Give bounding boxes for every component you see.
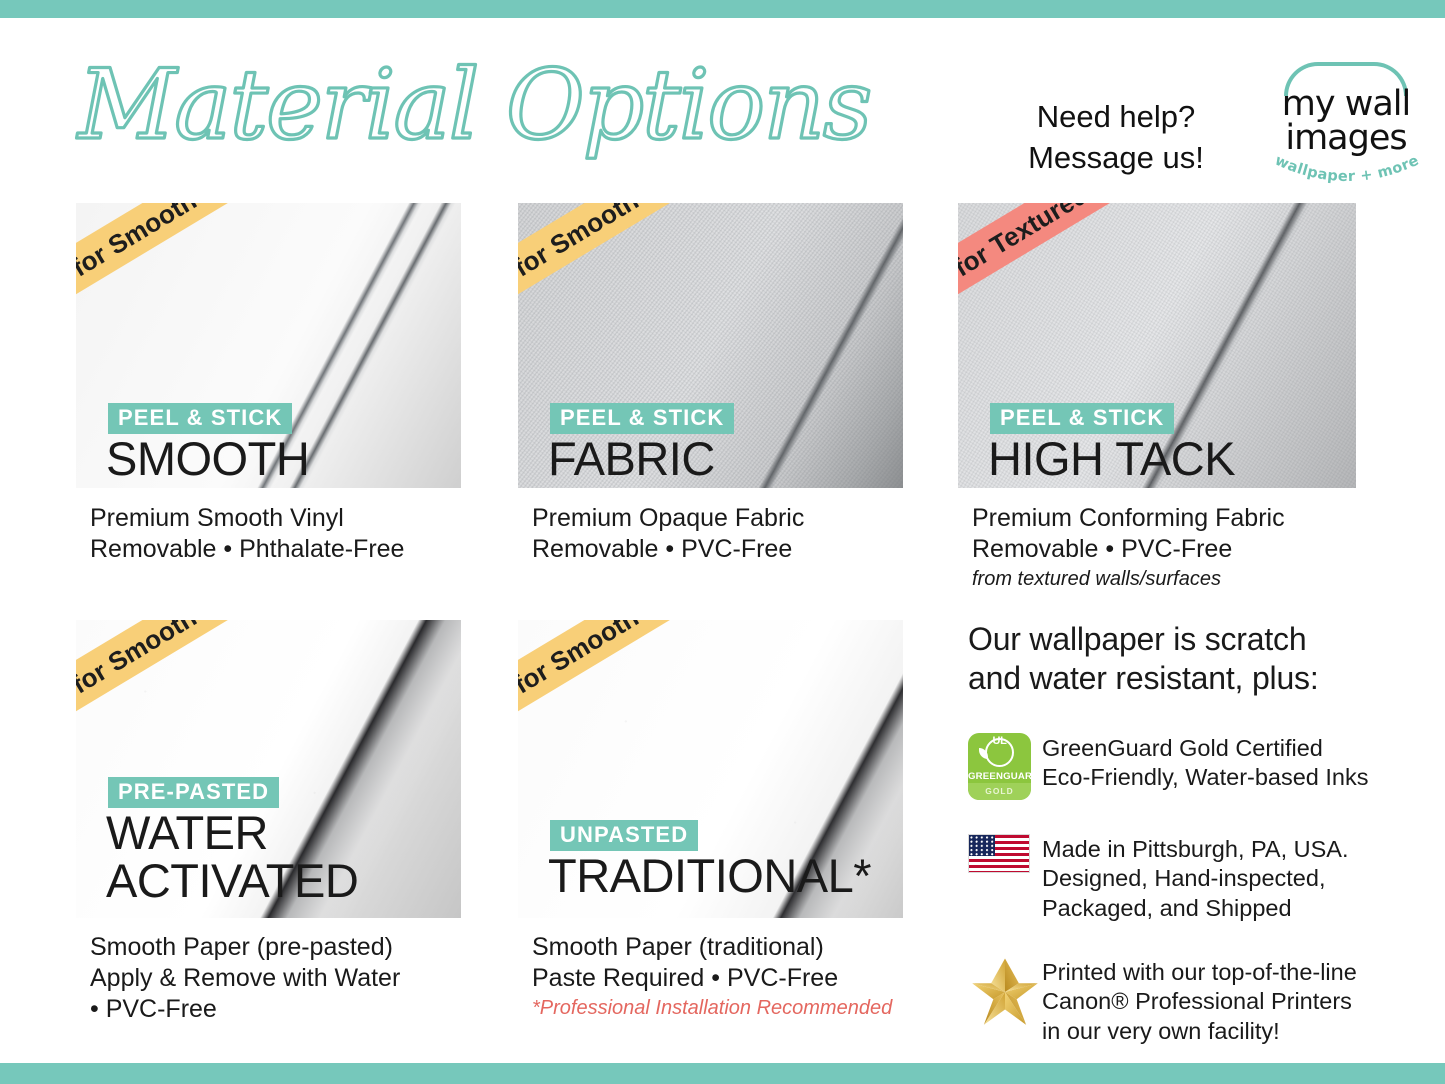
caption-line1: Premium Opaque Fabric xyxy=(532,504,804,532)
feature-line3: in our very own facility! xyxy=(1042,1018,1280,1044)
material-card-fabric[interactable]: for Smooth Walls PEEL & STICK FABRIC Pre… xyxy=(518,203,903,488)
bottom-accent-bar xyxy=(0,1063,1445,1084)
need-help-line2: Message us! xyxy=(990,137,1242,178)
ribbon-label: for Smooth Walls xyxy=(518,203,708,283)
top-accent-bar xyxy=(0,0,1445,18)
ribbon-smooth: for Smooth Walls xyxy=(76,203,320,302)
feature-line2: Canon® Professional Printers xyxy=(1042,988,1352,1014)
ribbon-traditional: for Smooth Walls xyxy=(518,620,762,719)
features-title-line2: and water resistant, plus: xyxy=(968,660,1319,696)
logo-tagline-text: wallpaper + more xyxy=(1272,153,1421,185)
card-heading-smooth: SMOOTH xyxy=(106,435,309,483)
features-title-line1: Our wallpaper is scratch xyxy=(968,621,1306,657)
badge-unpasted: UNPASTED xyxy=(550,820,698,851)
features-panel: Our wallpaper is scratch and water resis… xyxy=(968,620,1398,1046)
page-title: Material Options xyxy=(78,54,698,164)
greenguard-name: GREENGUARD xyxy=(968,771,1031,782)
feature-text-made-in-usa: Made in Pittsburgh, PA, USA. Designed, H… xyxy=(1042,834,1349,924)
feature-line1: Made in Pittsburgh, PA, USA. xyxy=(1042,836,1349,862)
card-image-traditional: for Smooth Walls UNPASTED TRADITIONAL* xyxy=(518,620,903,918)
caption-line1: Premium Conforming Fabric xyxy=(972,504,1285,532)
caption-line1: Smooth Paper (pre-pasted) xyxy=(90,933,393,961)
caption-note: from textured walls/surfaces xyxy=(972,567,1392,592)
badge-peel-and-stick: PEEL & STICK xyxy=(550,403,734,434)
badge-label: UNPASTED xyxy=(560,822,688,847)
feature-item-canon-printers: Printed with our top-of-the-line Canon® … xyxy=(968,957,1398,1047)
greenguard-tier-band: GOLD xyxy=(968,783,1031,800)
caption-line1: Premium Smooth Vinyl xyxy=(90,504,344,532)
gold-star-icon xyxy=(968,957,1042,1027)
brand-logo[interactable]: my wall images wallpaper + more xyxy=(1266,62,1426,190)
need-help-line1: Need help? xyxy=(990,96,1242,137)
caption-line3: • PVC-Free xyxy=(90,995,217,1023)
ribbon-fabric: for Smooth Walls xyxy=(518,203,762,302)
feature-item-greenguard: UL GREENGUARD GOLD GreenGuard Gold Certi… xyxy=(968,733,1398,800)
logo-line2: images xyxy=(1266,118,1426,158)
ribbon-label: for Smooth Walls xyxy=(518,620,708,700)
ribbon-label: for Textured Walls xyxy=(958,203,1158,283)
feature-line1: GreenGuard Gold Certified xyxy=(1042,735,1323,761)
caption-traditional: Smooth Paper (traditional) Paste Require… xyxy=(532,932,952,1020)
caption-high-tack: Premium Conforming Fabric Removable • PV… xyxy=(972,503,1392,591)
caption-line2: Removable • Phthalate-Free xyxy=(90,535,404,563)
page-header: Material Options Need help? Message us! … xyxy=(0,18,1445,194)
card-heading-traditional: TRADITIONAL* xyxy=(548,852,871,900)
logo-tagline: wallpaper + more xyxy=(1272,158,1422,192)
material-card-traditional[interactable]: for Smooth Walls UNPASTED TRADITIONAL* S… xyxy=(518,620,903,918)
caption-fabric: Premium Opaque Fabric Removable • PVC-Fr… xyxy=(532,503,932,565)
greenguard-gold-icon: UL GREENGUARD GOLD xyxy=(968,733,1042,800)
feature-text-greenguard: GreenGuard Gold Certified Eco-Friendly, … xyxy=(1042,733,1369,793)
badge-label: PEEL & STICK xyxy=(1000,405,1164,430)
material-card-high-tack[interactable]: for Textured Walls PEEL & STICK HIGH TAC… xyxy=(958,203,1356,488)
caption-line2: Removable • PVC-Free xyxy=(532,535,792,563)
feature-line1: Printed with our top-of-the-line xyxy=(1042,959,1357,985)
feature-text-canon-printers: Printed with our top-of-the-line Canon® … xyxy=(1042,957,1357,1047)
us-flag-icon xyxy=(968,834,1042,873)
ribbon-water-activated: for Smooth Walls xyxy=(76,620,320,719)
greenguard-ul-label: UL xyxy=(968,735,1031,747)
caption-line2: Removable • PVC-Free xyxy=(972,535,1232,563)
badge-peel-and-stick: PEEL & STICK xyxy=(990,403,1174,434)
ribbon-label: for Smooth Walls xyxy=(76,203,266,283)
card-image-water-activated: for Smooth Walls PRE-PASTED WATER ACTIVA… xyxy=(76,620,461,918)
feature-line2: Designed, Hand-inspected, xyxy=(1042,865,1325,891)
badge-pre-pasted: PRE-PASTED xyxy=(108,777,279,808)
card-heading-line2: ACTIVATED xyxy=(106,854,358,907)
feature-line3: Packaged, and Shipped xyxy=(1042,895,1292,921)
caption-line2: Paste Required • PVC-Free xyxy=(532,964,838,992)
material-card-water-activated[interactable]: for Smooth Walls PRE-PASTED WATER ACTIVA… xyxy=(76,620,461,918)
card-heading-line1: WATER xyxy=(106,806,268,859)
caption-note: *Professional Installation Recommended xyxy=(532,996,952,1021)
material-card-smooth[interactable]: for Smooth Walls PEEL & STICK SMOOTH Pre… xyxy=(76,203,461,488)
page-title-text: Material Options xyxy=(76,49,870,161)
card-heading-high-tack: HIGH TACK xyxy=(988,435,1235,483)
caption-water-activated: Smooth Paper (pre-pasted) Apply & Remove… xyxy=(90,932,500,1024)
feature-item-made-in-usa: Made in Pittsburgh, PA, USA. Designed, H… xyxy=(968,834,1398,924)
caption-smooth: Premium Smooth Vinyl Removable • Phthala… xyxy=(90,503,490,565)
card-heading-water-activated: WATER ACTIVATED xyxy=(106,809,358,905)
card-heading-fabric: FABRIC xyxy=(548,435,715,483)
card-image-fabric: for Smooth Walls PEEL & STICK FABRIC xyxy=(518,203,903,488)
feature-line2: Eco-Friendly, Water-based Inks xyxy=(1042,764,1369,790)
ribbon-high-tack: for Textured Walls xyxy=(958,203,1202,302)
greenguard-tier: GOLD xyxy=(985,786,1014,796)
card-image-smooth: for Smooth Walls PEEL & STICK SMOOTH xyxy=(76,203,461,488)
card-image-high-tack: for Textured Walls PEEL & STICK HIGH TAC… xyxy=(958,203,1356,488)
caption-line2: Apply & Remove with Water xyxy=(90,964,400,992)
flag-stars xyxy=(969,835,995,856)
need-help-block: Need help? Message us! xyxy=(990,96,1242,178)
badge-label: PRE-PASTED xyxy=(118,779,269,804)
badge-peel-and-stick: PEEL & STICK xyxy=(108,403,292,434)
features-title: Our wallpaper is scratch and water resis… xyxy=(968,620,1398,699)
badge-label: PEEL & STICK xyxy=(118,405,282,430)
badge-label: PEEL & STICK xyxy=(560,405,724,430)
flag-canton xyxy=(969,835,995,856)
caption-line1: Smooth Paper (traditional) xyxy=(532,933,824,961)
ribbon-label: for Smooth Walls xyxy=(76,620,266,700)
